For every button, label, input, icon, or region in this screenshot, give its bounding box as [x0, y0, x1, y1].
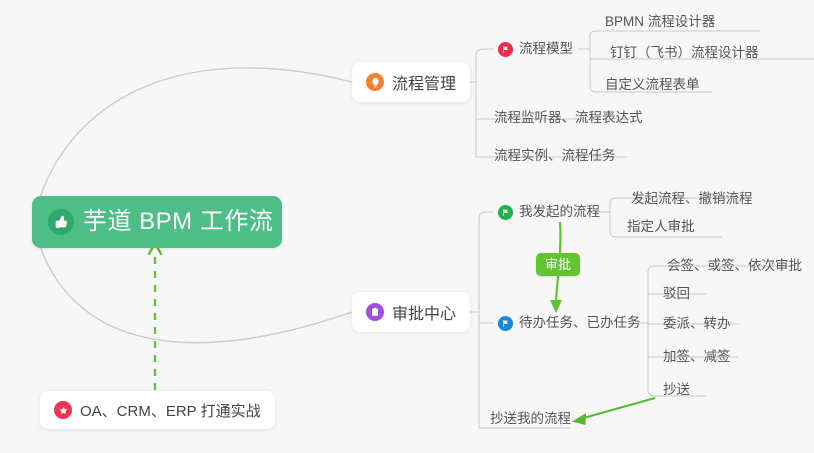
- thumbs-up-icon: [48, 209, 74, 235]
- branch-approval-center[interactable]: 审批中心: [352, 292, 470, 332]
- node-cc-to-me-process[interactable]: 抄送我的流程: [484, 406, 577, 432]
- node-label: BPMN 流程设计器: [605, 9, 715, 35]
- flag-icon: [498, 42, 513, 57]
- node-reject[interactable]: 驳回: [657, 281, 696, 307]
- node-label: 流程实例、流程任务: [494, 143, 616, 169]
- node-label: 加签、减签: [663, 344, 731, 370]
- branch-label: 审批中心: [392, 300, 456, 324]
- node-label: 抄送: [663, 377, 690, 403]
- lightbulb-icon: [366, 73, 384, 91]
- node-label: 会签、或签、依次审批: [667, 253, 802, 279]
- node-add-remove-sign[interactable]: 加签、减签: [657, 344, 737, 370]
- node-label: 委派、转办: [663, 311, 731, 337]
- node-bpmn-designer[interactable]: BPMN 流程设计器: [599, 9, 721, 35]
- node-label: 自定义流程表单: [605, 72, 700, 98]
- node-process-model[interactable]: 流程模型: [492, 36, 579, 62]
- node-todo-done-tasks[interactable]: 待办任务、已办任务: [492, 310, 647, 336]
- node-process-instance-task[interactable]: 流程实例、流程任务: [488, 143, 622, 169]
- clipboard-icon: [366, 303, 384, 321]
- mindmap-canvas: 芋道 BPM 工作流 流程管理 流程模型 BPMN 流程设计器 钉钉（飞书）流程…: [0, 0, 814, 453]
- node-process-listener-expression[interactable]: 流程监听器、流程表达式: [488, 105, 649, 131]
- node-delegate-transfer[interactable]: 委派、转办: [657, 311, 737, 337]
- node-label: 抄送我的流程: [490, 406, 571, 432]
- approval-badge: 审批: [536, 253, 580, 276]
- node-label: 流程模型: [519, 36, 573, 62]
- node-label: 发起流程、撤销流程: [631, 186, 753, 212]
- node-dingtalk-feishu-designer[interactable]: 钉钉（飞书）流程设计器: [604, 40, 765, 66]
- root-label: 芋道 BPM 工作流: [83, 210, 273, 234]
- node-label: 驳回: [663, 281, 690, 307]
- root-node[interactable]: 芋道 BPM 工作流: [32, 196, 282, 248]
- branch-label: 流程管理: [392, 70, 456, 94]
- cc-link-arrow: [580, 398, 655, 419]
- node-custom-process-form[interactable]: 自定义流程表单: [599, 72, 706, 98]
- bottom-note-label: OA、CRM、ERP 打通实战: [80, 400, 261, 421]
- node-label: 指定人审批: [627, 214, 695, 240]
- bottom-note-card[interactable]: OA、CRM、ERP 打通实战: [40, 391, 275, 429]
- node-label: 流程监听器、流程表达式: [494, 105, 643, 131]
- node-designated-approver[interactable]: 指定人审批: [621, 214, 701, 240]
- node-my-initiated-process[interactable]: 我发起的流程: [492, 199, 606, 225]
- node-label: 待办任务、已办任务: [519, 310, 641, 336]
- star-icon: [54, 401, 72, 419]
- flag-icon: [498, 316, 513, 331]
- branch-process-management[interactable]: 流程管理: [352, 62, 470, 102]
- approval-badge-label: 审批: [545, 257, 571, 272]
- node-cc[interactable]: 抄送: [657, 377, 696, 403]
- node-start-cancel-process[interactable]: 发起流程、撤销流程: [625, 186, 759, 212]
- node-label: 我发起的流程: [519, 199, 600, 225]
- node-countersign-orsign-sequential[interactable]: 会签、或签、依次审批: [661, 253, 808, 279]
- node-label: 钉钉（飞书）流程设计器: [610, 40, 759, 66]
- flag-icon: [498, 205, 513, 220]
